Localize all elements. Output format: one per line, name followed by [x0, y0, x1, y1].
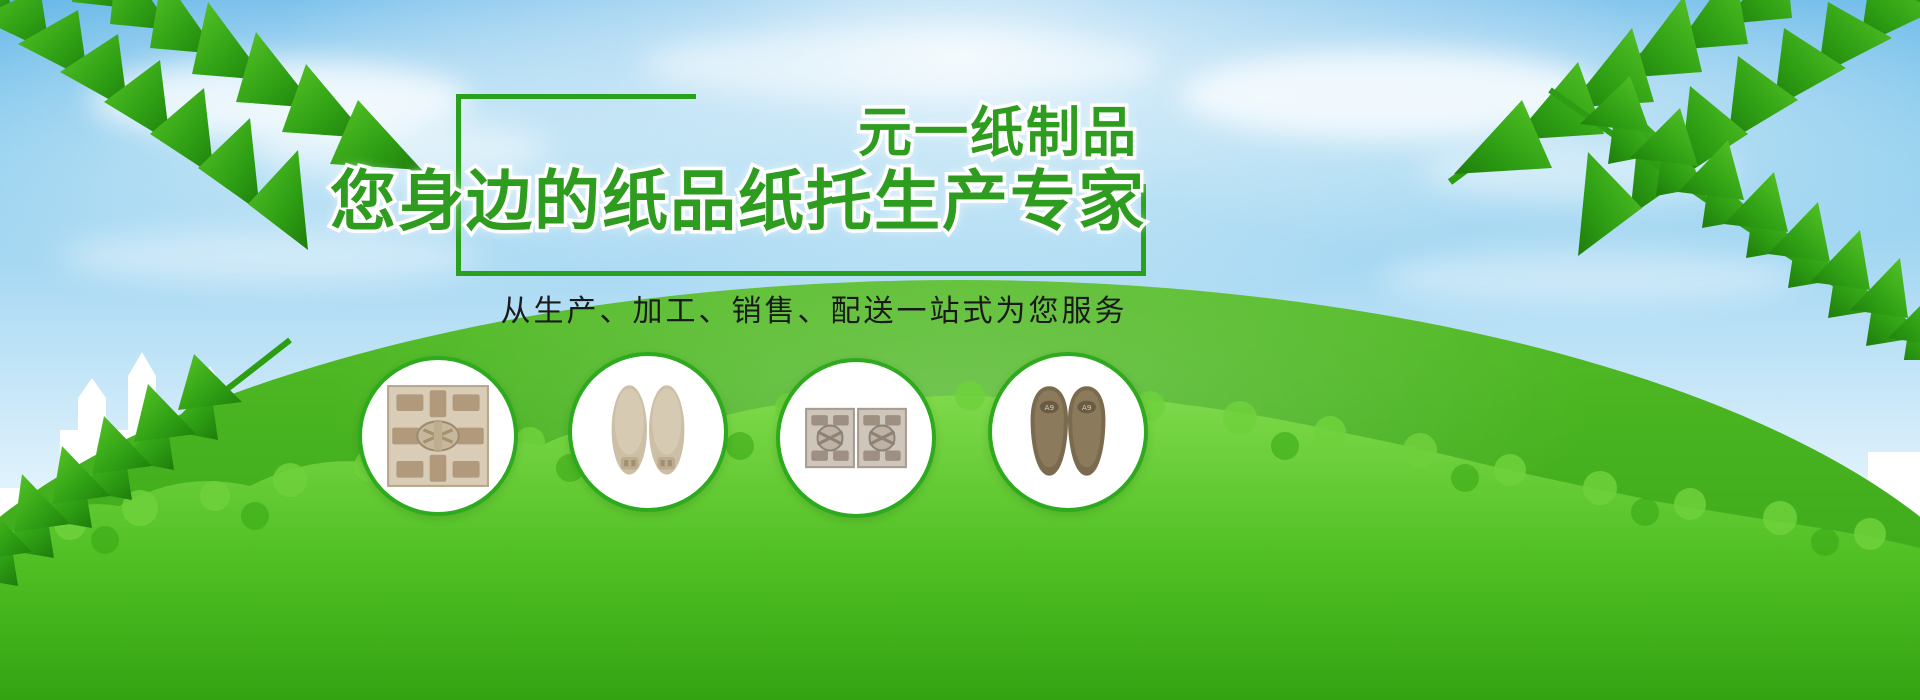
molded-pulp-tray-square-icon — [386, 384, 490, 488]
product-circle-3[interactable] — [776, 358, 936, 518]
svg-text:A9: A9 — [1082, 403, 1092, 412]
palm-leaf-icon — [1490, 30, 1920, 360]
subtitle-text: 从生产、加工、销售、配送一站式为您服务 — [484, 286, 1144, 330]
headline-block: 元一纸制品 您身边的纸品纸托生产专家 — [456, 94, 1146, 276]
svg-text:A9: A9 — [1044, 403, 1054, 412]
product-circle-2[interactable] — [568, 352, 728, 512]
product-circle-4[interactable]: A9 A9 — [988, 352, 1148, 512]
molded-pulp-shoe-insert-pair-icon — [596, 380, 700, 484]
product-circle-1[interactable] — [358, 356, 518, 516]
headline-line-2: 您身边的纸品纸托生产专家 — [330, 148, 1146, 244]
molded-pulp-packaging-pair-icon — [804, 386, 908, 490]
product-circle-row: A9 A9 — [0, 352, 1920, 512]
molded-pulp-shoe-tree-dark-pair-icon: A9 A9 — [1016, 380, 1120, 484]
promo-banner: 元一纸制品 您身边的纸品纸托生产专家 从生产、加工、销售、配送一站式为您服务 — [0, 0, 1920, 700]
